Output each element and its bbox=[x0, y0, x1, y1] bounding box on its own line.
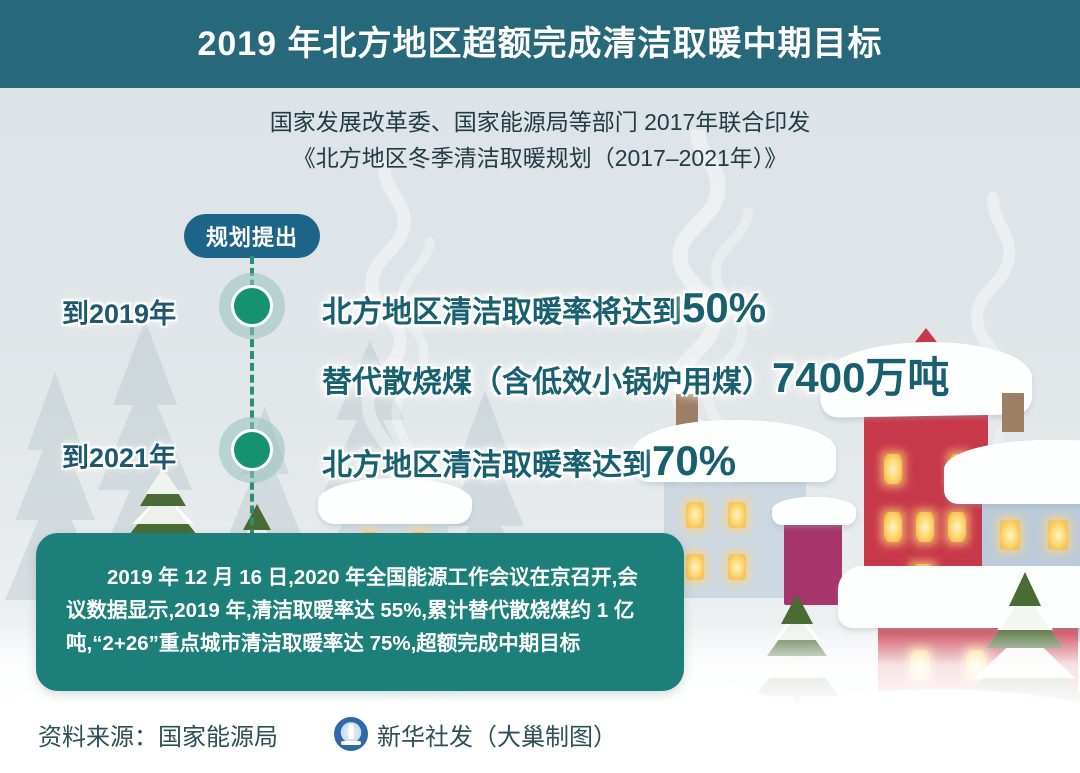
milestone-2021-statement-1: 北方地区清洁取暖率达到70% bbox=[322, 437, 736, 485]
xinhua-logo-icon bbox=[334, 717, 368, 751]
plan-proposed-badge-label: 规划提出 bbox=[206, 220, 298, 252]
infographic-poster: 2019 年北方地区超额完成清洁取暖中期目标 国家发展改革委、国家能源局等部门 … bbox=[0, 0, 1080, 773]
plan-proposed-badge: 规划提出 bbox=[184, 214, 320, 258]
agency-credit-label: 新华社发（大巢制图） bbox=[377, 717, 617, 752]
milestone-2019-statement-1: 北方地区清洁取暖率将达到50% bbox=[322, 284, 766, 332]
milestone-2019-statement-2: 替代散烧煤（含低效小锅炉用煤）7400万吨 bbox=[322, 344, 949, 405]
statement-value: 50% bbox=[682, 284, 766, 331]
statement-text: 替代散烧煤（含低效小锅炉用煤） bbox=[322, 366, 772, 399]
page-title: 2019 年北方地区超额完成清洁取暖中期目标 bbox=[0, 0, 1080, 88]
milestone-year-2021: 到2021年 bbox=[62, 436, 176, 475]
data-source-label: 资料来源：国家能源局 bbox=[38, 717, 278, 752]
statement-text: 北方地区清洁取暖率达到 bbox=[322, 449, 652, 482]
title-bar: 2019 年北方地区超额完成清洁取暖中期目标 bbox=[0, 0, 1080, 88]
statement-value: 70% bbox=[652, 437, 736, 484]
timeline-node-dot bbox=[231, 285, 273, 327]
milestone-year-2019: 到2019年 bbox=[62, 292, 176, 331]
summary-callout-box: 2019 年 12 月 16 日,2020 年全国能源工作会议在京召开,会议数据… bbox=[36, 533, 684, 691]
statement-text: 北方地区清洁取暖率将达到 bbox=[322, 296, 682, 329]
footer: 资料来源：国家能源局 新华社发（大巢制图） bbox=[38, 712, 1038, 756]
agency-credit: 新华社发（大巢制图） bbox=[334, 717, 617, 752]
timeline-node-2019 bbox=[219, 273, 285, 339]
summary-callout-text: 2019 年 12 月 16 日,2020 年全国能源工作会议在京召开,会议数据… bbox=[36, 533, 684, 660]
subtitle-line-2: 《北方地区冬季清洁取暖规划（2017–2021年）》 bbox=[0, 140, 1080, 176]
subtitle-block: 国家发展改革委、国家能源局等部门 2017年联合印发 《北方地区冬季清洁取暖规划… bbox=[0, 104, 1080, 176]
subtitle-line-1: 国家发展改革委、国家能源局等部门 2017年联合印发 bbox=[0, 104, 1080, 140]
statement-value: 7400万吨 bbox=[772, 354, 949, 401]
timeline-node-dot bbox=[231, 429, 273, 471]
timeline-node-2021 bbox=[219, 417, 285, 483]
